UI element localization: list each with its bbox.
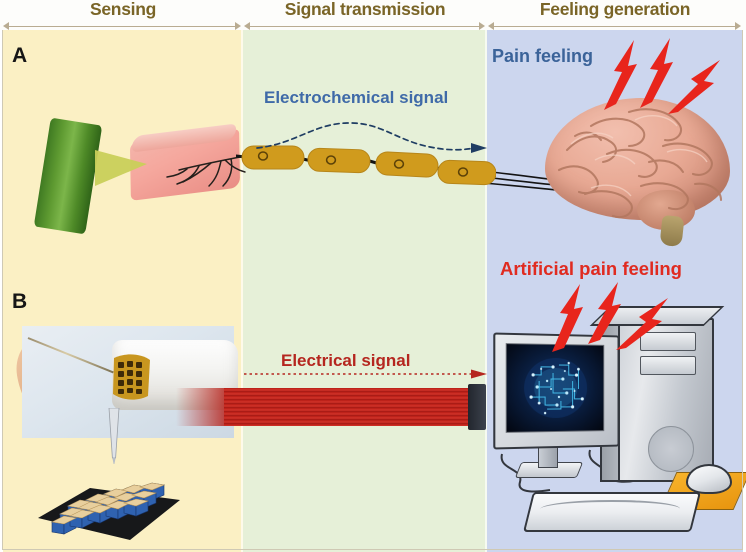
caption-artificial-pain-feeling: Artificial pain feeling (500, 258, 682, 280)
pain-lightning-bolts-icon-a (596, 38, 726, 118)
ribbon-cable-connector (468, 384, 486, 430)
header-band: Sensing Signal transmission Feeling gene… (0, 0, 746, 30)
pipette-tip-graphic (108, 408, 120, 464)
header-title-sensing: Sensing (3, 0, 243, 20)
monitor-screen (506, 343, 605, 433)
column-separator-1 (241, 30, 243, 552)
header-title-feeling: Feeling generation (487, 0, 743, 20)
tower-vent-icon (648, 426, 694, 472)
header-double-arrow-icon-feeling (488, 22, 741, 31)
sensor-array-graphic (34, 456, 182, 544)
column-separator-2 (485, 30, 487, 552)
human-brain-graphic (545, 98, 730, 238)
mouse-graphic (686, 464, 732, 494)
drive-bay-2 (640, 356, 696, 375)
digital-brain-graphic (507, 344, 604, 432)
caption-electrochemical-signal: Electrochemical signal (264, 88, 448, 108)
header-title-transmission: Signal transmission (243, 0, 487, 20)
pain-lightning-bolts-icon-b (540, 282, 670, 356)
header-double-arrow-icon-transmission (244, 22, 485, 31)
caption-pain-feeling: Pain feeling (492, 46, 593, 67)
figure-root: Sensing Signal transmission Feeling gene… (0, 0, 746, 552)
caption-electrical-signal: Electrical signal (281, 351, 410, 371)
flexible-sensor-patch-graphic (110, 352, 152, 402)
panel-letter-b: B (12, 290, 27, 314)
red-ribbon-cable-graphic (224, 388, 476, 426)
header-double-arrow-icon-sensing (3, 22, 241, 31)
ribbon-cable-fade (176, 388, 228, 426)
column-transmission-background (243, 30, 487, 552)
brain-gyri-pattern (545, 98, 730, 233)
electrochemical-dashed-arrow-icon (255, 118, 490, 158)
panel-letter-a: A (12, 44, 27, 68)
